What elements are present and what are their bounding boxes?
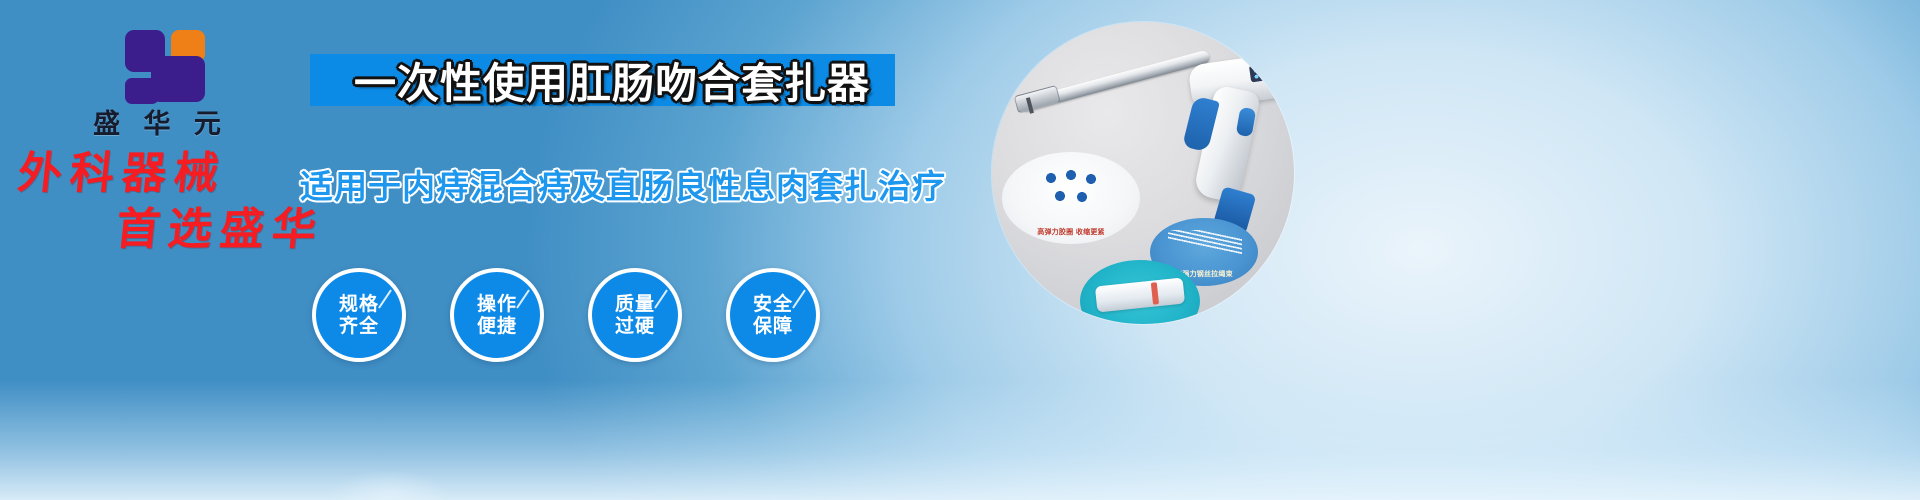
device-tip — [1014, 85, 1061, 114]
feature-badge-line-1: 安全 — [753, 293, 793, 315]
product-photo: 高弹力胶圈 收缩更紧 加强力钢丝拉绳束 — [992, 22, 1294, 324]
logo-block-bottom-right — [151, 56, 205, 102]
feature-badge-safety[interactable]: 安全 保障 — [726, 268, 820, 362]
feature-badge-quality[interactable]: 质量 过硬 — [588, 268, 682, 362]
rubber-rings-icon — [1040, 170, 1102, 210]
feature-badge-line-2: 便捷 — [477, 315, 517, 337]
page-subtitle: 适用于内痔混合痔及直肠良性息肉套扎治疗 — [300, 160, 900, 208]
feature-badge-line-1: 操作 — [477, 293, 517, 315]
logo-block-bottom-left — [125, 78, 159, 104]
feature-badge-operation[interactable]: 操作 便捷 — [450, 268, 544, 362]
device-closeup-icon — [1095, 277, 1185, 312]
feature-badge-line-2: 齐全 — [339, 315, 379, 337]
promo-banner: 盛 华 元 外科器械 首选盛华 一次性使用肛肠吻合套扎器 适用于内痔混合痔及直肠… — [0, 0, 1920, 500]
brand-logo: 盛 华 元 — [62, 28, 252, 140]
ligation-needles-icon — [1168, 230, 1242, 258]
brand-name: 盛 华 元 — [62, 110, 252, 140]
device-side-button — [1236, 107, 1257, 137]
inset-rubber-rings: 高弹力胶圈 收缩更紧 — [1002, 152, 1140, 244]
shenghuayuan-blocks-logo-icon — [111, 28, 203, 104]
feature-badge-label: 质量 过硬 — [615, 293, 655, 338]
feature-badge-list: 规格 齐全 操作 便捷 质量 过硬 安全 保障 — [312, 268, 820, 362]
feature-badge-specifications[interactable]: 规格 齐全 — [312, 268, 406, 362]
feature-badge-line-1: 规格 — [339, 293, 379, 315]
feature-badge-line-2: 保障 — [753, 315, 793, 337]
page-title: 一次性使用肛肠吻合套扎器 — [332, 52, 892, 108]
background-highlight — [330, 470, 450, 500]
feature-badge-label: 安全 保障 — [753, 293, 793, 338]
device-indicator-lights-icon — [1252, 66, 1269, 79]
feature-badge-line-1: 质量 — [615, 293, 655, 315]
inset-caption: 高弹力胶圈 收缩更紧 — [1002, 227, 1140, 237]
slogan-line-2: 首选盛华 — [114, 208, 361, 252]
feature-badge-label: 操作 便捷 — [477, 293, 517, 338]
feature-badge-line-2: 过硬 — [615, 315, 655, 337]
feature-badge-label: 规格 齐全 — [339, 293, 379, 338]
